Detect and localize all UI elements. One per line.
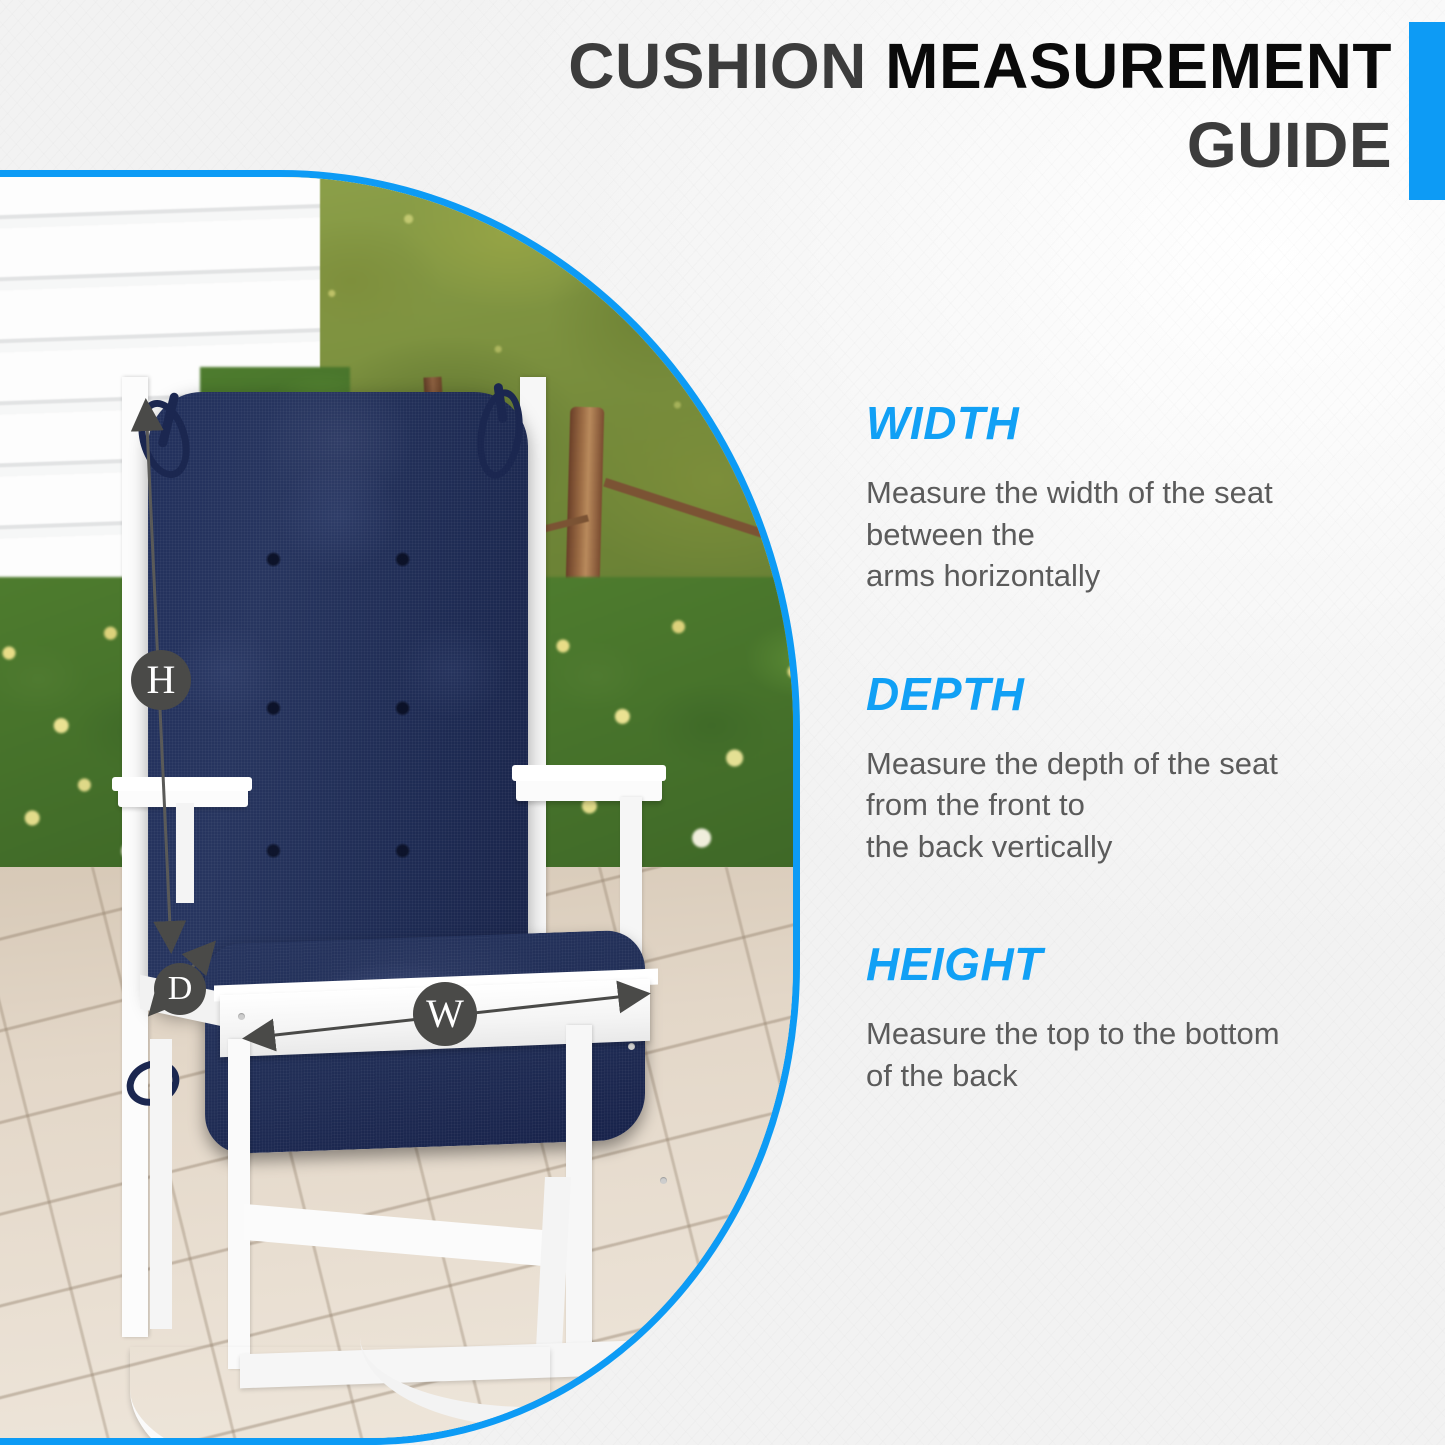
chair-stretcher-upper bbox=[244, 1204, 544, 1266]
info-section-depth: DEPTH Measure the depth of the seat from… bbox=[866, 671, 1406, 868]
height-marker: H bbox=[131, 650, 191, 710]
info-heading-depth: DEPTH bbox=[866, 671, 1406, 717]
chair-back-post-left bbox=[122, 377, 148, 1337]
info-section-height: HEIGHT Measure the top to the bottom of … bbox=[866, 941, 1406, 1096]
title-word-measurement: MEASUREMENT bbox=[885, 30, 1392, 102]
chair-rocker-front bbox=[130, 1347, 550, 1438]
chair-arm-post-left bbox=[176, 803, 194, 903]
photo-scene bbox=[0, 177, 793, 1438]
screw-9 bbox=[660, 1177, 667, 1184]
cushion-back-panel bbox=[148, 392, 528, 1012]
rocking-chair bbox=[0, 177, 793, 1438]
title-word-cushion: CUSHION bbox=[568, 30, 885, 102]
page-title: CUSHION MEASUREMENT GUIDE bbox=[330, 34, 1392, 179]
width-marker: W bbox=[413, 982, 477, 1046]
info-body-depth: Measure the depth of the seat from the f… bbox=[866, 743, 1406, 868]
title-line-2: GUIDE bbox=[330, 113, 1392, 178]
product-photo-panel bbox=[0, 170, 800, 1445]
screw-1 bbox=[238, 1013, 245, 1020]
info-heading-width: WIDTH bbox=[866, 400, 1406, 446]
info-section-width: WIDTH Measure the width of the seat betw… bbox=[866, 400, 1406, 597]
title-line-1: CUSHION MEASUREMENT bbox=[330, 34, 1392, 99]
chair-arm-left-top bbox=[112, 777, 252, 791]
info-body-height: Measure the top to the bottom of the bac… bbox=[866, 1013, 1406, 1096]
depth-marker: D bbox=[154, 963, 206, 1015]
info-heading-height: HEIGHT bbox=[866, 941, 1406, 987]
photo-clip-shape bbox=[0, 170, 800, 1445]
accent-bar bbox=[1409, 22, 1445, 200]
chair-leg-back bbox=[150, 1039, 172, 1329]
measurement-info-column: WIDTH Measure the width of the seat betw… bbox=[866, 400, 1406, 1170]
info-body-width: Measure the width of the seat between th… bbox=[866, 472, 1406, 597]
screw-3 bbox=[628, 997, 635, 1004]
screw-4 bbox=[628, 1043, 635, 1050]
chair-arm-right-top bbox=[512, 765, 666, 781]
